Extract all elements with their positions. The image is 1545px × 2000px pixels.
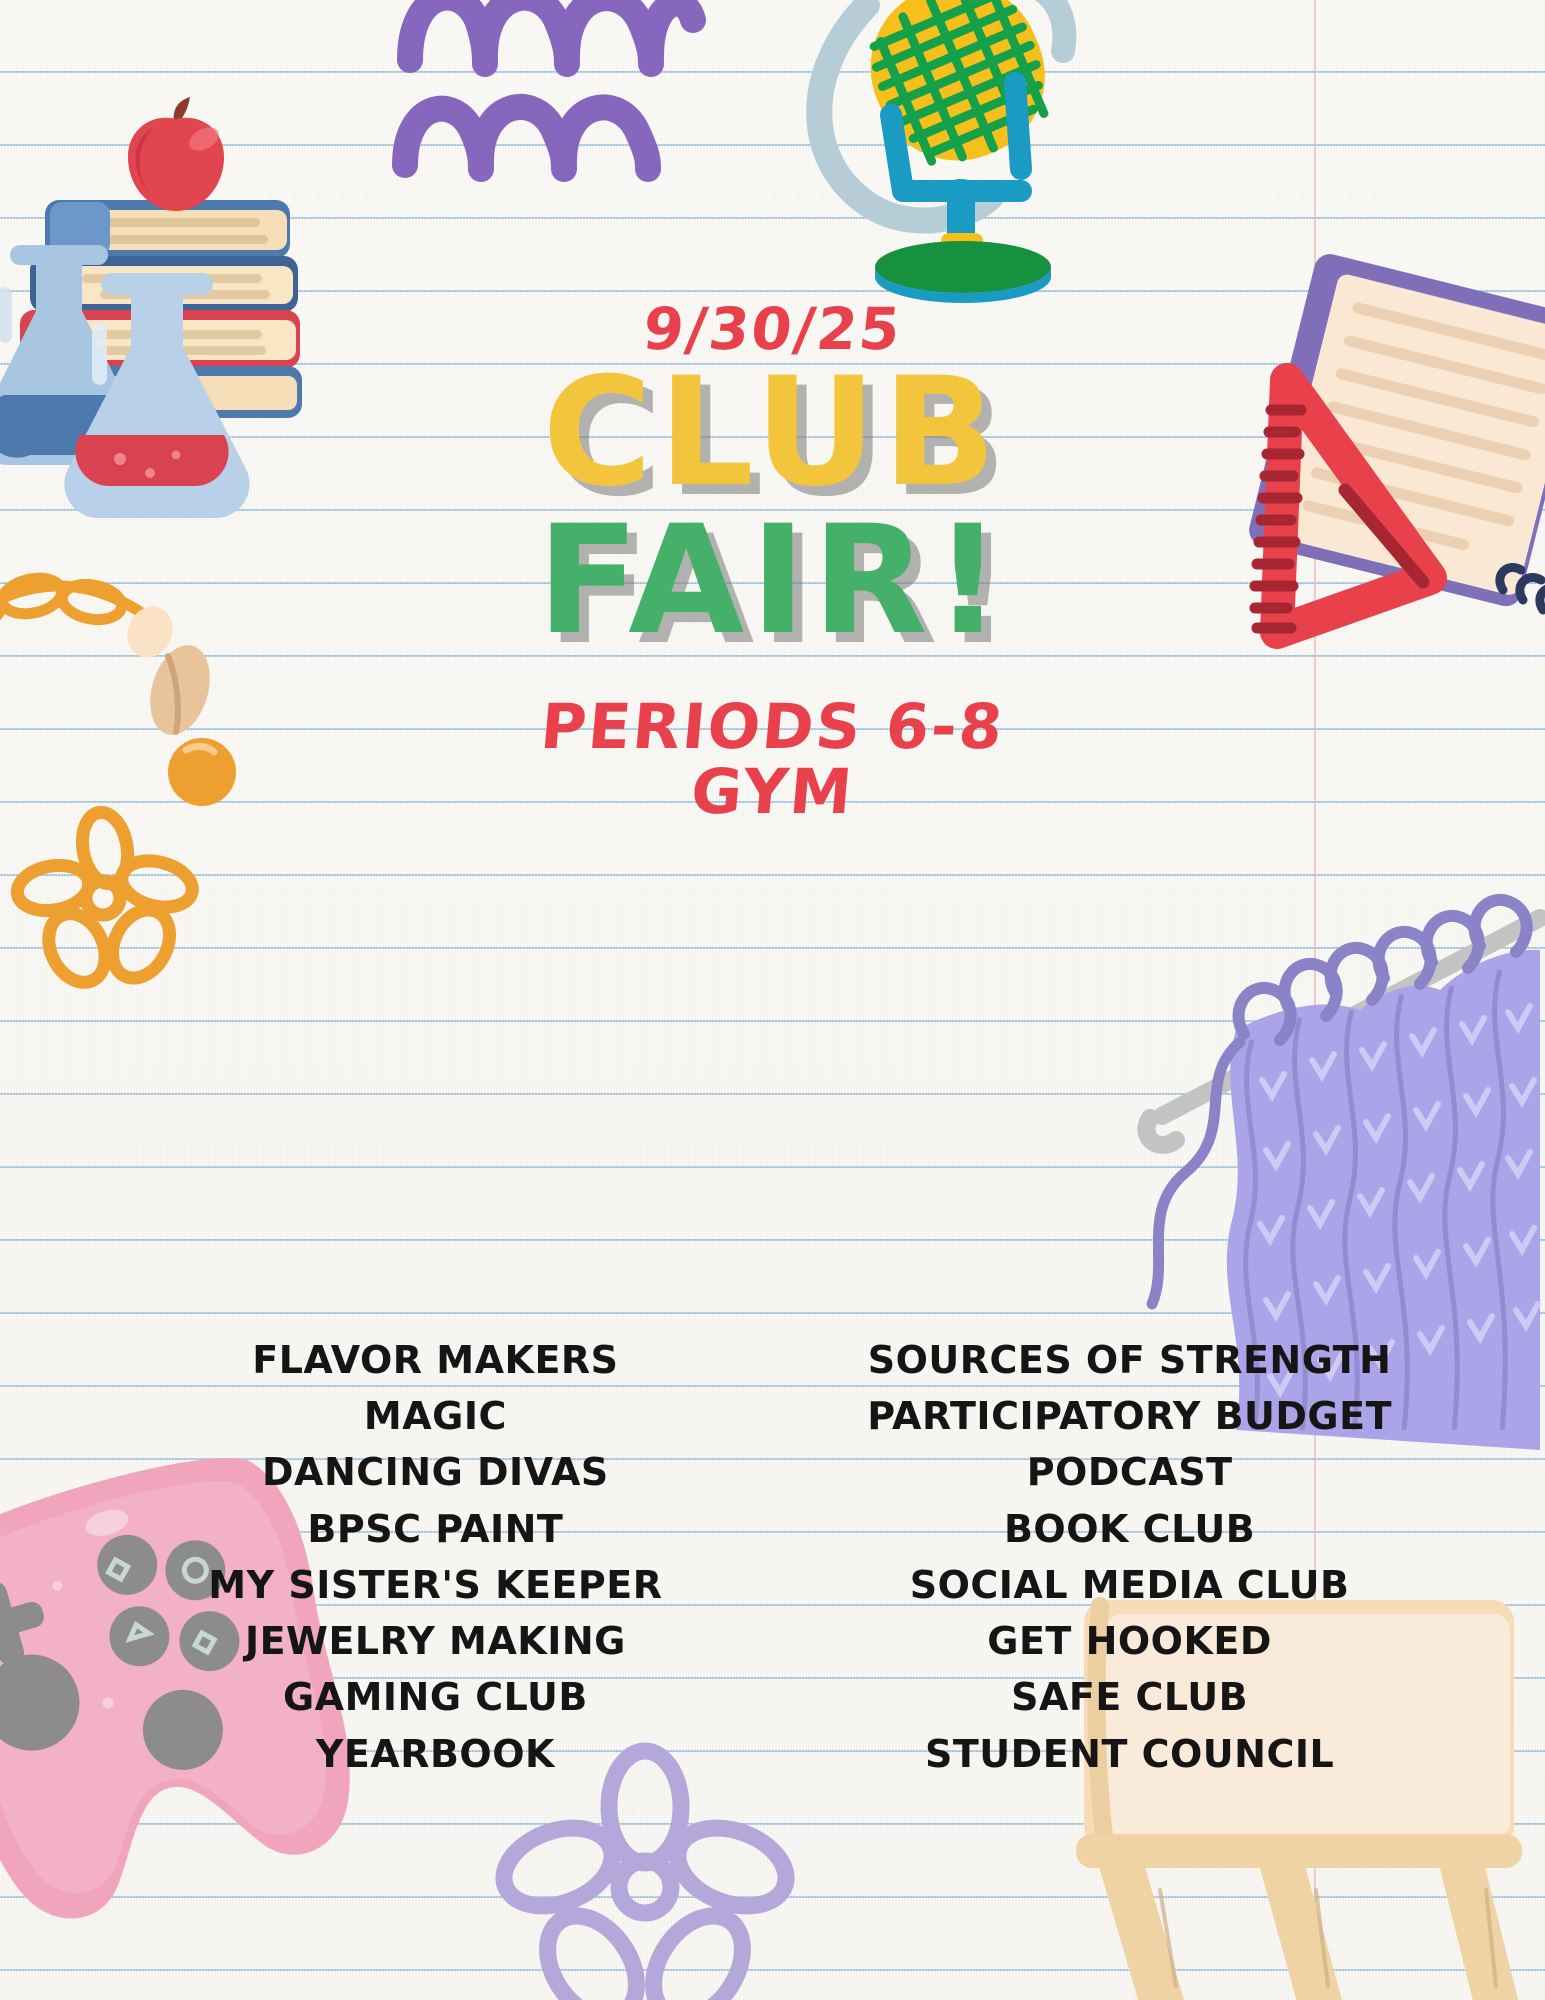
club-list-item: BPSC PAINT bbox=[115, 1501, 756, 1557]
title-line-fair: FAIR! bbox=[0, 512, 1545, 650]
club-list-item: JEWELRY MAKING bbox=[115, 1613, 756, 1669]
headline-block: 9/30/25 CLUB FAIR! PERIODS 6-8 GYM bbox=[0, 300, 1545, 824]
club-list-item: PARTICIPATORY BUDGET bbox=[809, 1388, 1450, 1444]
club-list-item: SOCIAL MEDIA CLUB bbox=[809, 1557, 1450, 1613]
club-list: FLAVOR MAKERS MAGIC DANCING DIVAS BPSC P… bbox=[115, 1332, 1450, 1782]
event-periods: PERIODS 6-8 bbox=[0, 694, 1545, 759]
club-list-item: PODCAST bbox=[809, 1444, 1450, 1500]
club-list-item: GAMING CLUB bbox=[115, 1669, 756, 1725]
club-list-item: DANCING DIVAS bbox=[115, 1444, 756, 1500]
club-list-item: FLAVOR MAKERS bbox=[115, 1332, 756, 1388]
title-line-club: CLUB bbox=[0, 364, 1545, 502]
club-list-item: GET HOOKED bbox=[809, 1613, 1450, 1669]
club-list-item: MAGIC bbox=[115, 1388, 756, 1444]
club-list-item: MY SISTER'S KEEPER bbox=[115, 1557, 756, 1613]
club-list-item: SAFE CLUB bbox=[809, 1669, 1450, 1725]
club-list-item: SOURCES OF STRENGTH bbox=[809, 1332, 1450, 1388]
event-date: 9/30/25 bbox=[0, 300, 1545, 358]
club-list-item: BOOK CLUB bbox=[809, 1501, 1450, 1557]
club-list-item: YEARBOOK bbox=[115, 1726, 756, 1782]
club-list-right-column: SOURCES OF STRENGTH PARTICIPATORY BUDGET… bbox=[799, 1332, 1450, 1782]
club-fair-poster: 9/30/25 CLUB FAIR! PERIODS 6-8 GYM FLAVO… bbox=[0, 0, 1545, 2000]
event-location: GYM bbox=[0, 759, 1545, 824]
club-list-left-column: FLAVOR MAKERS MAGIC DANCING DIVAS BPSC P… bbox=[115, 1332, 776, 1782]
club-list-item: STUDENT COUNCIL bbox=[809, 1726, 1450, 1782]
